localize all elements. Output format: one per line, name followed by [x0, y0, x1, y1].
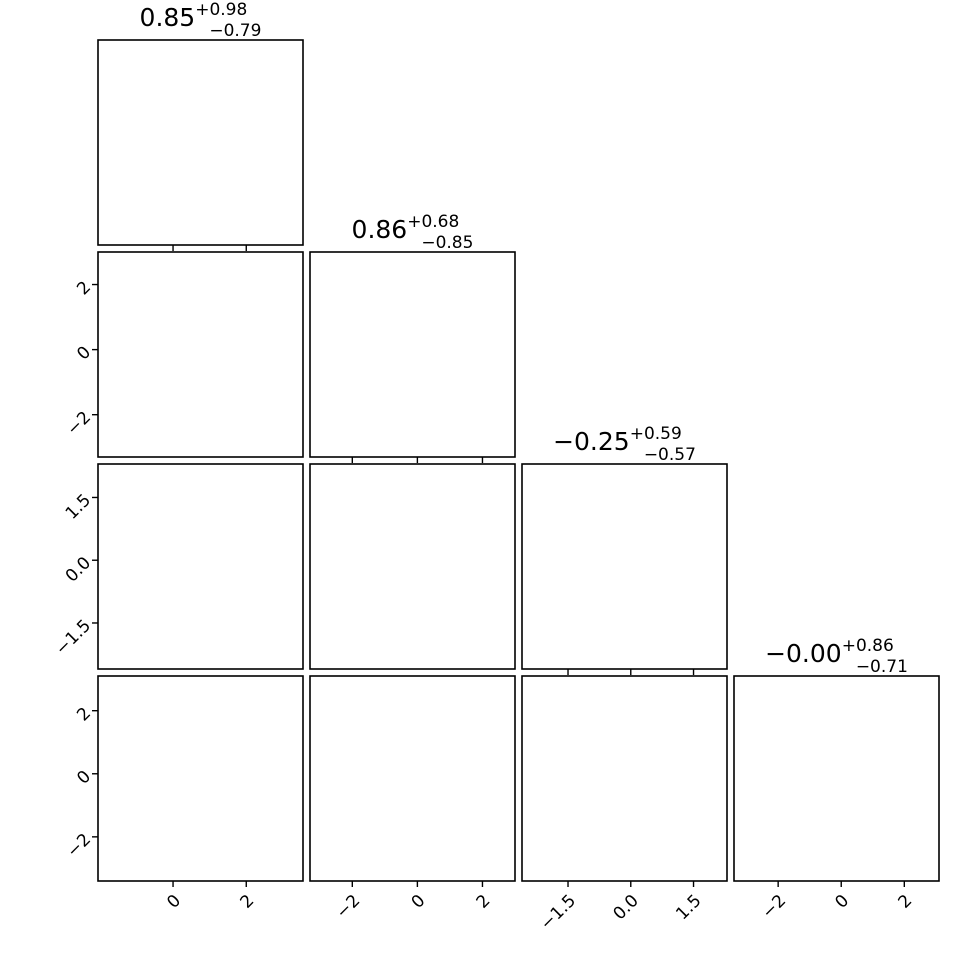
scatter-point: [516, 540, 520, 544]
yticklabel-2-1: 0.0: [62, 553, 95, 586]
yticklabel-1-0: −2: [63, 408, 95, 440]
scatter-point: [306, 241, 310, 245]
scatter-point: [52, 572, 56, 576]
xticklabel-0-1: 2: [236, 891, 258, 913]
marginal-panel-1: 0.86+0.68−0.85: [310, 212, 515, 457]
scatter-point: [88, 742, 92, 746]
panel-frame-2-2: [522, 464, 727, 669]
scatter-point: [518, 762, 522, 766]
xticklabel-1-0: −2: [332, 891, 364, 923]
xticklabel-3-1: 0: [831, 891, 853, 913]
scatter-point: [36, 804, 40, 808]
scatter-point: [50, 729, 54, 733]
scatter-point: [12, 765, 16, 769]
panel-frame-0-0: [98, 40, 303, 245]
panel-title-1: 0.86+0.68−0.85: [352, 212, 474, 253]
scatter-point: [79, 311, 83, 315]
scatter-point: [303, 543, 307, 547]
marginal-panel-3: −0.00+0.86−0.71: [734, 636, 939, 881]
scatter-point: [305, 723, 309, 727]
scatter-point: [517, 622, 521, 626]
scatter-point: [61, 784, 65, 788]
panel-frame-2-1: [310, 464, 515, 669]
yticklabel-2-2: 1.5: [62, 490, 95, 523]
scatter-point: [93, 617, 97, 621]
xticklabel-1-2: 2: [473, 891, 495, 913]
yticklabel-3-1: 0: [73, 767, 95, 789]
scatter-point: [314, 235, 318, 239]
panel-frame-3-3: [734, 676, 939, 881]
joint-panel-3-2: [507, 662, 727, 883]
xticklabel-2-2: 1.5: [672, 891, 705, 924]
scatter-point: [323, 229, 327, 233]
panel-title-2: −0.25+0.59−0.57: [553, 424, 696, 465]
xticklabel-3-0: −2: [758, 891, 790, 923]
scatter-point: [53, 576, 57, 580]
panel-title-3: −0.00+0.86−0.71: [765, 636, 908, 677]
marginal-panel-0: 0.85+0.98−0.79: [98, 0, 303, 245]
scatter-point: [61, 778, 65, 782]
scatter-point: [84, 550, 88, 554]
scatter-point: [93, 758, 97, 762]
scatter-point: [515, 572, 519, 576]
xticklabel-3-2: 2: [895, 891, 917, 913]
xticklabel-0-0: 0: [163, 891, 185, 913]
scatter-point: [92, 521, 96, 525]
corner-plot-figure: 0.85+0.98−0.790.86+0.68−0.85−0.25+0.59−0…: [0, 0, 970, 970]
scatter-point: [153, 882, 157, 886]
panel-frame-1-1: [310, 252, 515, 457]
scatter-point: [83, 476, 87, 480]
scatter-point: [304, 299, 308, 303]
scatter-point: [72, 378, 76, 382]
scatter-point: [84, 519, 88, 523]
scatter-point: [29, 526, 33, 530]
scatter-point: [64, 387, 68, 391]
panel-frame-3-1: [310, 676, 515, 881]
panel-frame-3-0: [98, 676, 303, 881]
scatter-point: [56, 293, 60, 297]
yticklabel-1-2: 2: [73, 277, 95, 299]
panel-title-0: 0.85+0.98−0.79: [140, 0, 262, 41]
scatter-point: [67, 834, 71, 838]
yticklabel-2-0: −1.5: [52, 616, 95, 659]
scatter-point: [89, 438, 93, 442]
xticklabel-2-0: −1.5: [537, 891, 580, 934]
scatter-point: [517, 553, 521, 557]
scatter-point: [80, 334, 84, 338]
yticklabel-3-0: −2: [63, 830, 95, 862]
panel-frame-2-0: [98, 464, 303, 669]
marginal-panel-2: −0.25+0.59−0.57: [522, 424, 727, 669]
scatter-point: [93, 597, 97, 601]
scatter-point: [72, 802, 76, 806]
scatter-point: [305, 575, 309, 579]
scatter-point: [515, 617, 519, 621]
scatter-point: [92, 318, 96, 322]
panel-frame-1-0: [98, 252, 303, 457]
yticklabel-3-2: 2: [73, 704, 95, 726]
scatter-point: [69, 722, 73, 726]
xticklabel-1-1: 0: [408, 891, 430, 913]
yticklabel-1-1: 0: [73, 343, 95, 365]
scatter-point: [79, 542, 83, 546]
scatter-point: [249, 247, 253, 251]
scatter-point: [84, 341, 88, 345]
scatter-point: [63, 304, 67, 308]
scatter-point: [72, 553, 76, 557]
scatter-point: [74, 358, 78, 362]
panel-frame-3-2: [522, 676, 727, 881]
xticklabel-2-1: 0.0: [610, 891, 643, 924]
scatter-point: [517, 561, 521, 565]
scatter-point: [61, 324, 65, 328]
